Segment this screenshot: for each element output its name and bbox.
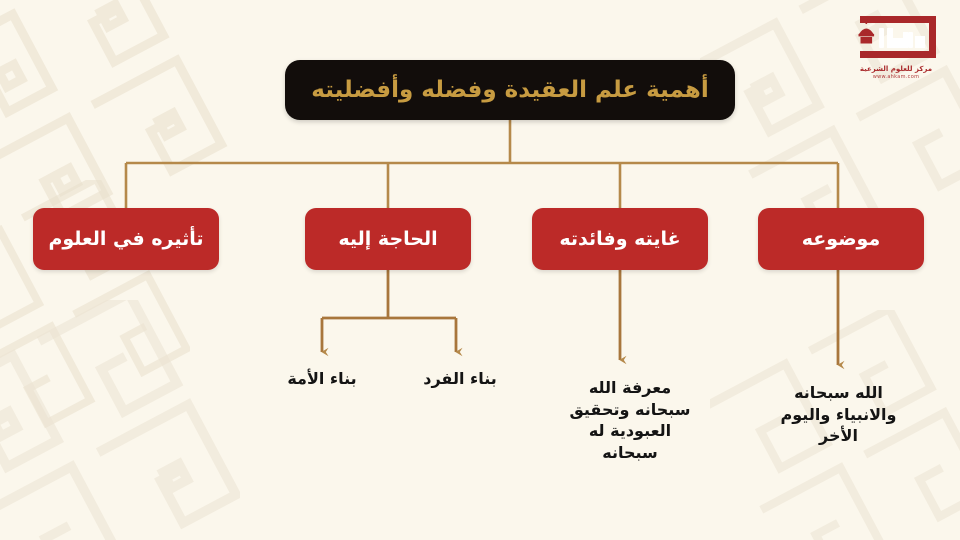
brand-logo[interactable]: مركز للعلوم الشرعية www.ahkam.com [844,14,948,92]
category-label: غايته وفائدته [559,228,680,250]
background-pattern-bottom-left [0,300,240,540]
category-node-tatheeruhu-fil-uloom[interactable]: تأثيره في العلوم [33,208,219,270]
diagram-title-node: أهمية علم العقيدة وفضله وأفضليته [285,60,735,120]
category-label: الحاجة إليه [338,228,437,250]
category-node-alhaja-ilayh[interactable]: الحاجة إليه [305,208,471,270]
diagram-title-label: أهمية علم العقيدة وفضله وأفضليته [311,77,708,103]
category-node-mawdooah[interactable]: موضوعه [758,208,924,270]
logo-mark [846,14,946,64]
category-label: موضوعه [802,228,880,250]
diagram-canvas: أهمية علم العقيدة وفضله وأفضليته تأثيره … [0,0,960,540]
logo-url: www.ahkam.com [844,74,948,80]
mosque-dome-icon [846,14,946,64]
background-pattern-top-left [0,0,230,240]
leaf-node-allah-wal-anbiya: الله سبحانه والانبياء واليوم الأخر [766,382,911,447]
leaf-node-bina-alummah: بناء الأمة [262,368,382,390]
logo-subtitle: مركز للعلوم الشرعية [844,65,948,73]
leaf-node-marifat-allah: معرفة الله سبحانه وتحقيق العبودية له سبح… [560,377,700,463]
category-label: تأثيره في العلوم [48,228,203,250]
leaf-node-bina-alfard: بناء الفرد [405,368,515,390]
category-node-ghayatuhu-wafaidatuhu[interactable]: غايته وفائدته [532,208,708,270]
